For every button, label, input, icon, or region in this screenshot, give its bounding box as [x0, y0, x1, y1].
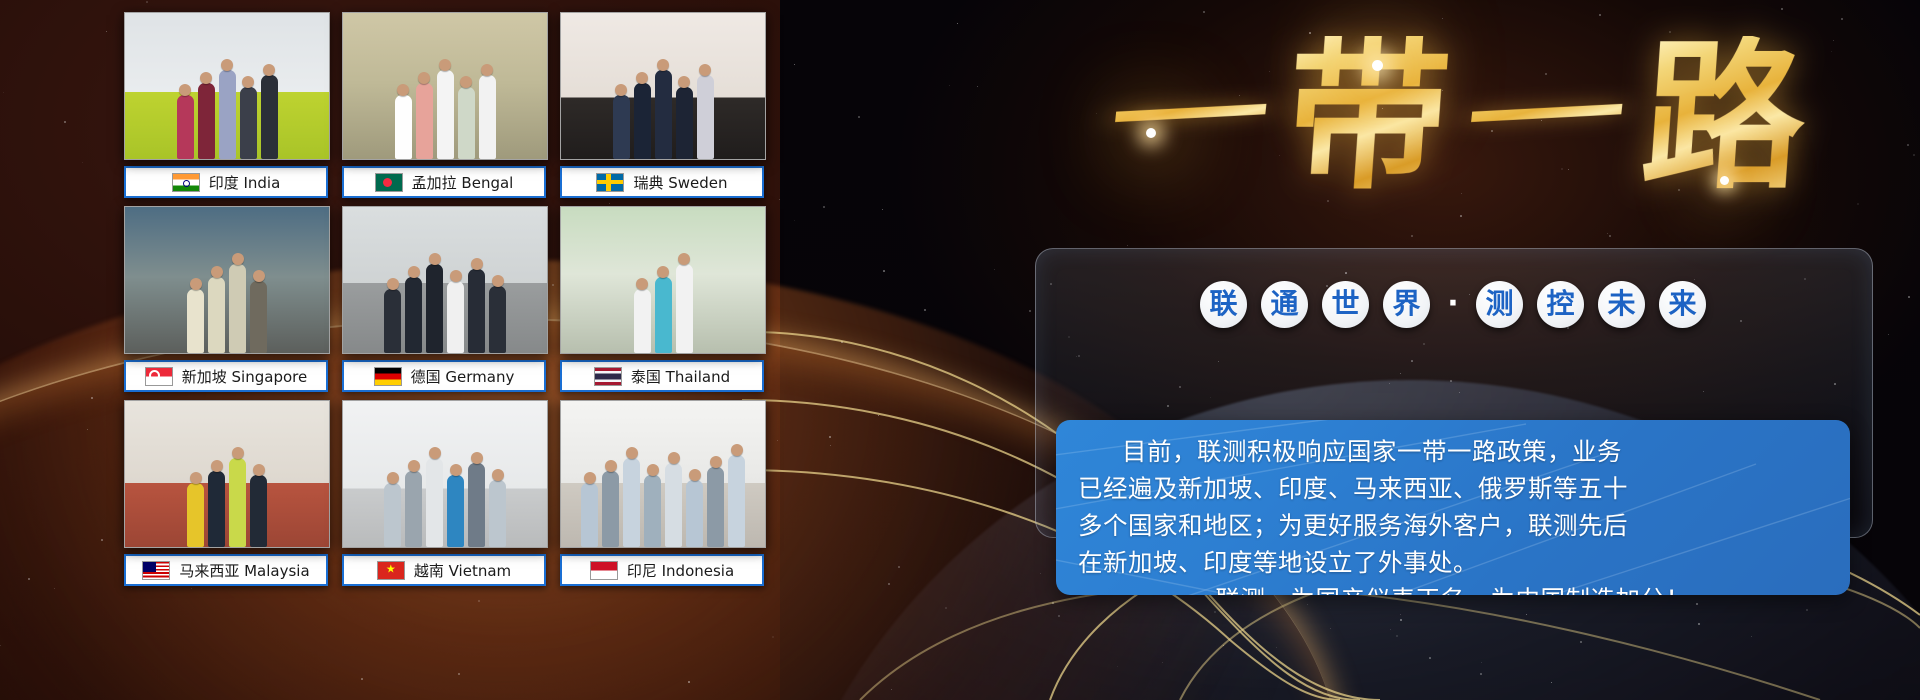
grid-cell: 新加坡 Singapore — [124, 206, 328, 392]
bangladesh-flag-icon — [375, 173, 403, 192]
malaysia-flag-icon — [142, 561, 170, 580]
country-caption[interactable]: 越南 Vietnam — [342, 554, 546, 586]
country-caption[interactable]: 孟加拉 Bengal — [342, 166, 546, 198]
slogan-char: 未 — [1598, 281, 1645, 328]
country-label: 瑞典 Sweden — [633, 172, 727, 193]
country-photo-grid: 印度 India孟加拉 Bengal瑞典 Sweden新加坡 Singapore… — [124, 12, 764, 586]
photo-people — [561, 436, 765, 547]
slogan-row: 联通世界·测控未来 — [1035, 258, 1871, 350]
thailand-flag-icon — [594, 367, 622, 386]
germany-flag-icon — [374, 367, 402, 386]
photo-people — [561, 48, 765, 159]
slogan-char: 联 — [1200, 281, 1247, 328]
slogan-char: 界 — [1383, 281, 1430, 328]
country-caption[interactable]: 印度 India — [124, 166, 328, 198]
india-flag-icon — [172, 173, 200, 192]
country-caption[interactable]: 马来西亚 Malaysia — [124, 554, 328, 586]
photo-bengal — [342, 12, 548, 160]
slogan-char: 来 — [1659, 281, 1706, 328]
photo-vietnam — [342, 400, 548, 548]
country-label: 印度 India — [209, 172, 281, 193]
photo-people — [125, 48, 329, 159]
photo-people — [343, 242, 547, 353]
slogan-char: 控 — [1537, 281, 1584, 328]
photo-people — [125, 242, 329, 353]
photo-germany — [342, 206, 548, 354]
photo-thailand — [560, 206, 766, 354]
slogan-char: 测 — [1476, 281, 1523, 328]
country-label: 泰国 Thailand — [631, 366, 730, 387]
photo-people — [125, 436, 329, 547]
photo-sweden — [560, 12, 766, 160]
photo-people — [343, 48, 547, 159]
photo-india — [124, 12, 330, 160]
title-char-2: 带 — [1281, 36, 1454, 198]
grid-cell: 德国 Germany — [342, 206, 546, 392]
country-caption[interactable]: 瑞典 Sweden — [560, 166, 764, 198]
title-char-1: 一 — [1106, 66, 1274, 167]
country-caption[interactable]: 泰国 Thailand — [560, 360, 764, 392]
photo-indonesia — [560, 400, 766, 548]
grid-cell: 孟加拉 Bengal — [342, 12, 546, 198]
belt-and-road-title: 一 带 一 路 — [1010, 8, 1910, 226]
photo-people — [343, 436, 547, 547]
grid-cell: 印尼 Indonesia — [560, 400, 764, 586]
description-line-3: 多个国家和地区；为更好服务海外客户，联测先后 — [1078, 507, 1828, 544]
vietnam-flag-icon — [377, 561, 405, 580]
grid-cell: 越南 Vietnam — [342, 400, 546, 586]
description-line-2: 已经遍及新加坡、印度、马来西亚、俄罗斯等五十 — [1078, 470, 1828, 507]
country-label: 印尼 Indonesia — [627, 560, 734, 581]
banner-root: 印度 India孟加拉 Bengal瑞典 Sweden新加坡 Singapore… — [0, 0, 1920, 700]
indonesia-flag-icon — [590, 561, 618, 580]
grid-cell: 泰国 Thailand — [560, 206, 764, 392]
grid-cell: 印度 India — [124, 12, 328, 198]
title-char-4: 路 — [1637, 36, 1810, 198]
slogan-char: · — [1444, 281, 1462, 328]
photo-singapore — [124, 206, 330, 354]
photo-malaysia — [124, 400, 330, 548]
grid-cell: 瑞典 Sweden — [560, 12, 764, 198]
title-char-3: 一 — [1462, 66, 1630, 167]
country-caption[interactable]: 印尼 Indonesia — [560, 554, 764, 586]
country-label: 马来西亚 Malaysia — [179, 560, 309, 581]
country-caption[interactable]: 新加坡 Singapore — [124, 360, 328, 392]
country-caption[interactable]: 德国 Germany — [342, 360, 546, 392]
slogan-char: 世 — [1322, 281, 1369, 328]
country-label: 新加坡 Singapore — [182, 366, 307, 387]
country-label: 越南 Vietnam — [414, 560, 511, 581]
description-line-5: 联测，为国产仪表正名，为中国制造加分！ — [1078, 581, 1828, 595]
country-label: 孟加拉 Bengal — [412, 172, 514, 193]
description-textbox: 目前，联测积极响应国家一带一路政策，业务 已经遍及新加坡、印度、马来西亚、俄罗斯… — [1056, 420, 1850, 595]
description-line-4: 在新加坡、印度等地设立了外事处。 — [1078, 544, 1828, 581]
singapore-flag-icon — [145, 367, 173, 386]
grid-cell: 马来西亚 Malaysia — [124, 400, 328, 586]
description-line-1: 目前，联测积极响应国家一带一路政策，业务 — [1078, 433, 1828, 470]
photo-people — [561, 242, 765, 353]
slogan-char: 通 — [1261, 281, 1308, 328]
country-label: 德国 Germany — [411, 366, 515, 387]
sweden-flag-icon — [596, 173, 624, 192]
